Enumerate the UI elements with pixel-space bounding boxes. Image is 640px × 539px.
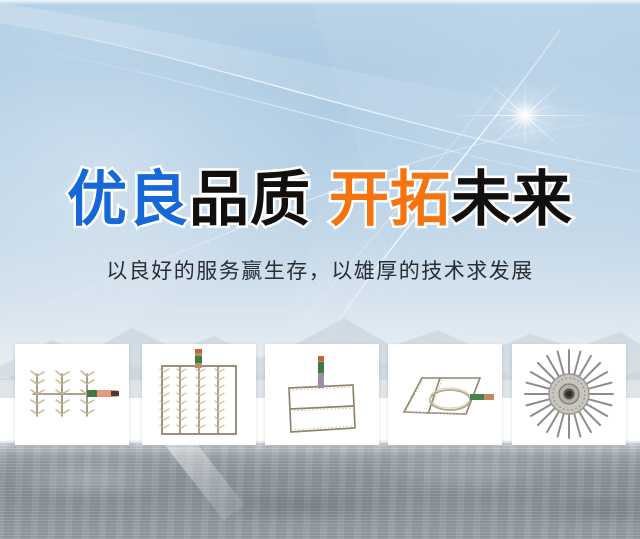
ground-surface — [0, 440, 640, 539]
headline: 优良品质开拓未来 — [0, 165, 640, 235]
ring-plate-assembly-icon — [388, 344, 502, 445]
comb-type-heating-element-icon — [15, 344, 129, 445]
product-card-2[interactable] — [142, 344, 256, 445]
product-card-row — [0, 344, 640, 448]
radial-star-wheel-icon — [512, 344, 626, 445]
subtitle: 以良好的服务赢生存，以雄厚的技术求发展 — [0, 256, 640, 286]
product-card-5[interactable] — [512, 344, 626, 445]
product-card-1[interactable] — [15, 344, 129, 445]
headline-part-2: 品质 — [189, 165, 311, 235]
headline-part-1: 优良 — [67, 165, 189, 235]
ground-mottle — [0, 440, 640, 539]
rectangular-spiked-frame-icon — [142, 344, 256, 445]
promo-banner: 优良品质开拓未来 以良好的服务赢生存，以雄厚的技术求发展 — [0, 0, 640, 539]
flat-panel-frame-icon — [265, 344, 379, 445]
product-card-4[interactable] — [388, 344, 502, 445]
headline-part-4: 未来 — [451, 165, 573, 235]
product-card-3[interactable] — [265, 344, 379, 445]
headline-part-3: 开拓 — [329, 165, 451, 235]
